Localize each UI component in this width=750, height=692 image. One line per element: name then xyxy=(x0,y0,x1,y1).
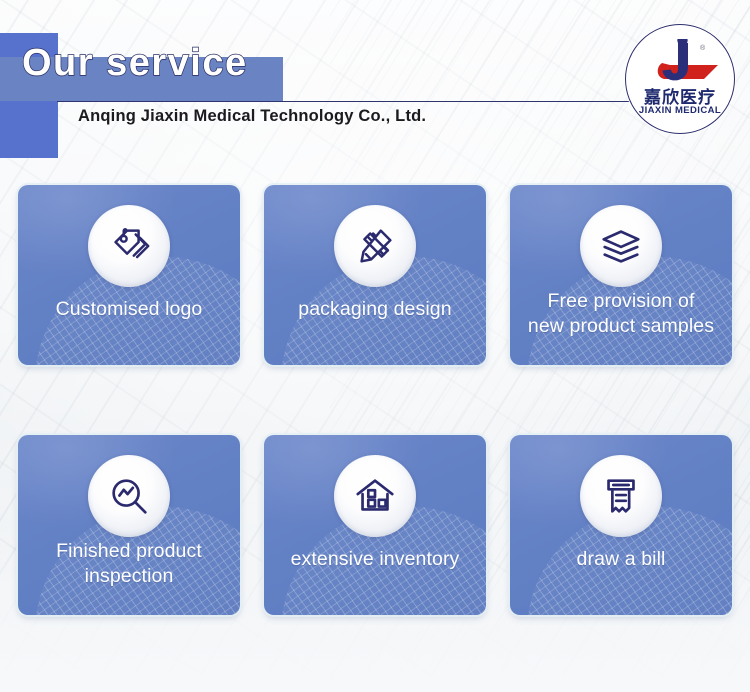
magnifier-chart-icon xyxy=(106,473,152,519)
card-label: Finished product inspection xyxy=(26,539,232,589)
icon-badge xyxy=(334,455,416,537)
service-card-packaging-design[interactable]: packaging design xyxy=(264,185,486,365)
icon-badge xyxy=(580,455,662,537)
card-label: Free provision of new product samples xyxy=(518,289,724,339)
card-label: Customised logo xyxy=(26,297,232,322)
invoice-receipt-icon xyxy=(598,473,644,519)
service-card-draw-a-bill[interactable]: draw a bill xyxy=(510,435,732,615)
service-card-finished-product-inspection[interactable]: Finished product inspection xyxy=(18,435,240,615)
warehouse-boxes-icon xyxy=(352,473,398,519)
service-row-bottom: Finished product inspection extensive in… xyxy=(18,435,732,615)
service-row-top: Customised logo xyxy=(18,185,732,365)
card-label: packaging design xyxy=(272,297,478,322)
icon-badge xyxy=(334,205,416,287)
registered-trademark-icon: ® xyxy=(700,45,705,52)
service-poster: Our service Anqing Jiaxin Medical Techno… xyxy=(0,0,750,692)
page-title: Our service xyxy=(22,42,248,85)
header-divider-line xyxy=(57,101,657,102)
logo-name-en: JIAXIN MEDICAL xyxy=(626,105,734,116)
service-card-customised-logo[interactable]: Customised logo xyxy=(18,185,240,365)
layers-stack-icon xyxy=(598,223,644,269)
company-name: Anqing Jiaxin Medical Technology Co., Lt… xyxy=(78,107,426,126)
icon-badge xyxy=(580,205,662,287)
card-label: draw a bill xyxy=(518,547,724,572)
icon-badge xyxy=(88,455,170,537)
page-header: Our service Anqing Jiaxin Medical Techno… xyxy=(0,0,750,175)
service-card-extensive-inventory[interactable]: extensive inventory xyxy=(264,435,486,615)
pen-ruler-design-icon xyxy=(352,223,398,269)
company-logo: ® 嘉欣医疗 JIAXIN MEDICAL xyxy=(625,24,735,134)
card-label: extensive inventory xyxy=(272,547,478,572)
logo-mark-icon xyxy=(626,39,734,85)
price-tags-icon xyxy=(106,223,152,269)
service-card-free-samples[interactable]: Free provision of new product samples xyxy=(510,185,732,365)
icon-badge xyxy=(88,205,170,287)
